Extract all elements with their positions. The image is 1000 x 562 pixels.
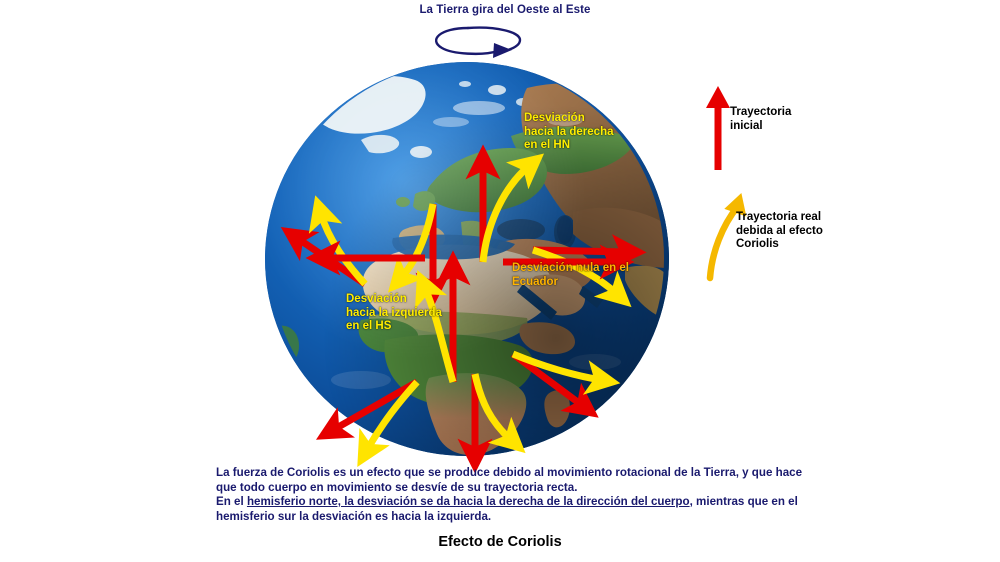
paragraph-line-1: La fuerza de Coriolis es un efecto que s…: [216, 466, 906, 481]
paragraph-line-2: que todo cuerpo en movimiento se desvíe …: [216, 481, 906, 496]
label-equator-no-deflection: Desviación nula en el Ecuador: [512, 262, 629, 289]
rotation-caption: La Tierra gira del Oeste al Este: [385, 4, 625, 16]
figure-title: Efecto de Coriolis: [0, 534, 1000, 550]
paragraph-line-3-post: , mientras que en el: [690, 495, 798, 508]
paragraph-line-3-pre: En el: [216, 495, 247, 508]
arrow-sh-indian-southeast: [513, 354, 601, 406]
label-southern-hemisphere-deflection: Desviación hacia la izquierda en el HS: [346, 293, 442, 334]
figure-canvas: La Tierra gira del Oeste al Este: [0, 0, 1000, 562]
arrow-nh-europe-north: [483, 164, 529, 262]
rotation-arrow-icon: [420, 18, 550, 60]
legend-label-real-trajectory: Trayectoria real debida al efecto Coriol…: [736, 211, 823, 252]
paragraph-line-4: hemisferio sur la desviación es hacia la…: [216, 510, 906, 525]
paragraph-line-3-underlined: hemisferio norte, la desviación se da ha…: [247, 495, 690, 508]
arrow-nh-africa-south: [401, 204, 433, 288]
arrow-nh-atlantic-northwest: [297, 214, 365, 284]
legend-label-initial-trajectory: Trayectoria inicial: [730, 106, 791, 133]
label-northern-hemisphere-deflection: Desviación hacia la derecha en el HN: [524, 112, 614, 153]
description-paragraph: La fuerza de Coriolis es un efecto que s…: [216, 466, 906, 524]
arrow-sh-africa-south: [475, 374, 511, 454]
paragraph-line-3: En el hemisferio norte, la desviación se…: [216, 495, 906, 510]
arrow-sh-atlantic-southwest: [333, 382, 417, 450]
